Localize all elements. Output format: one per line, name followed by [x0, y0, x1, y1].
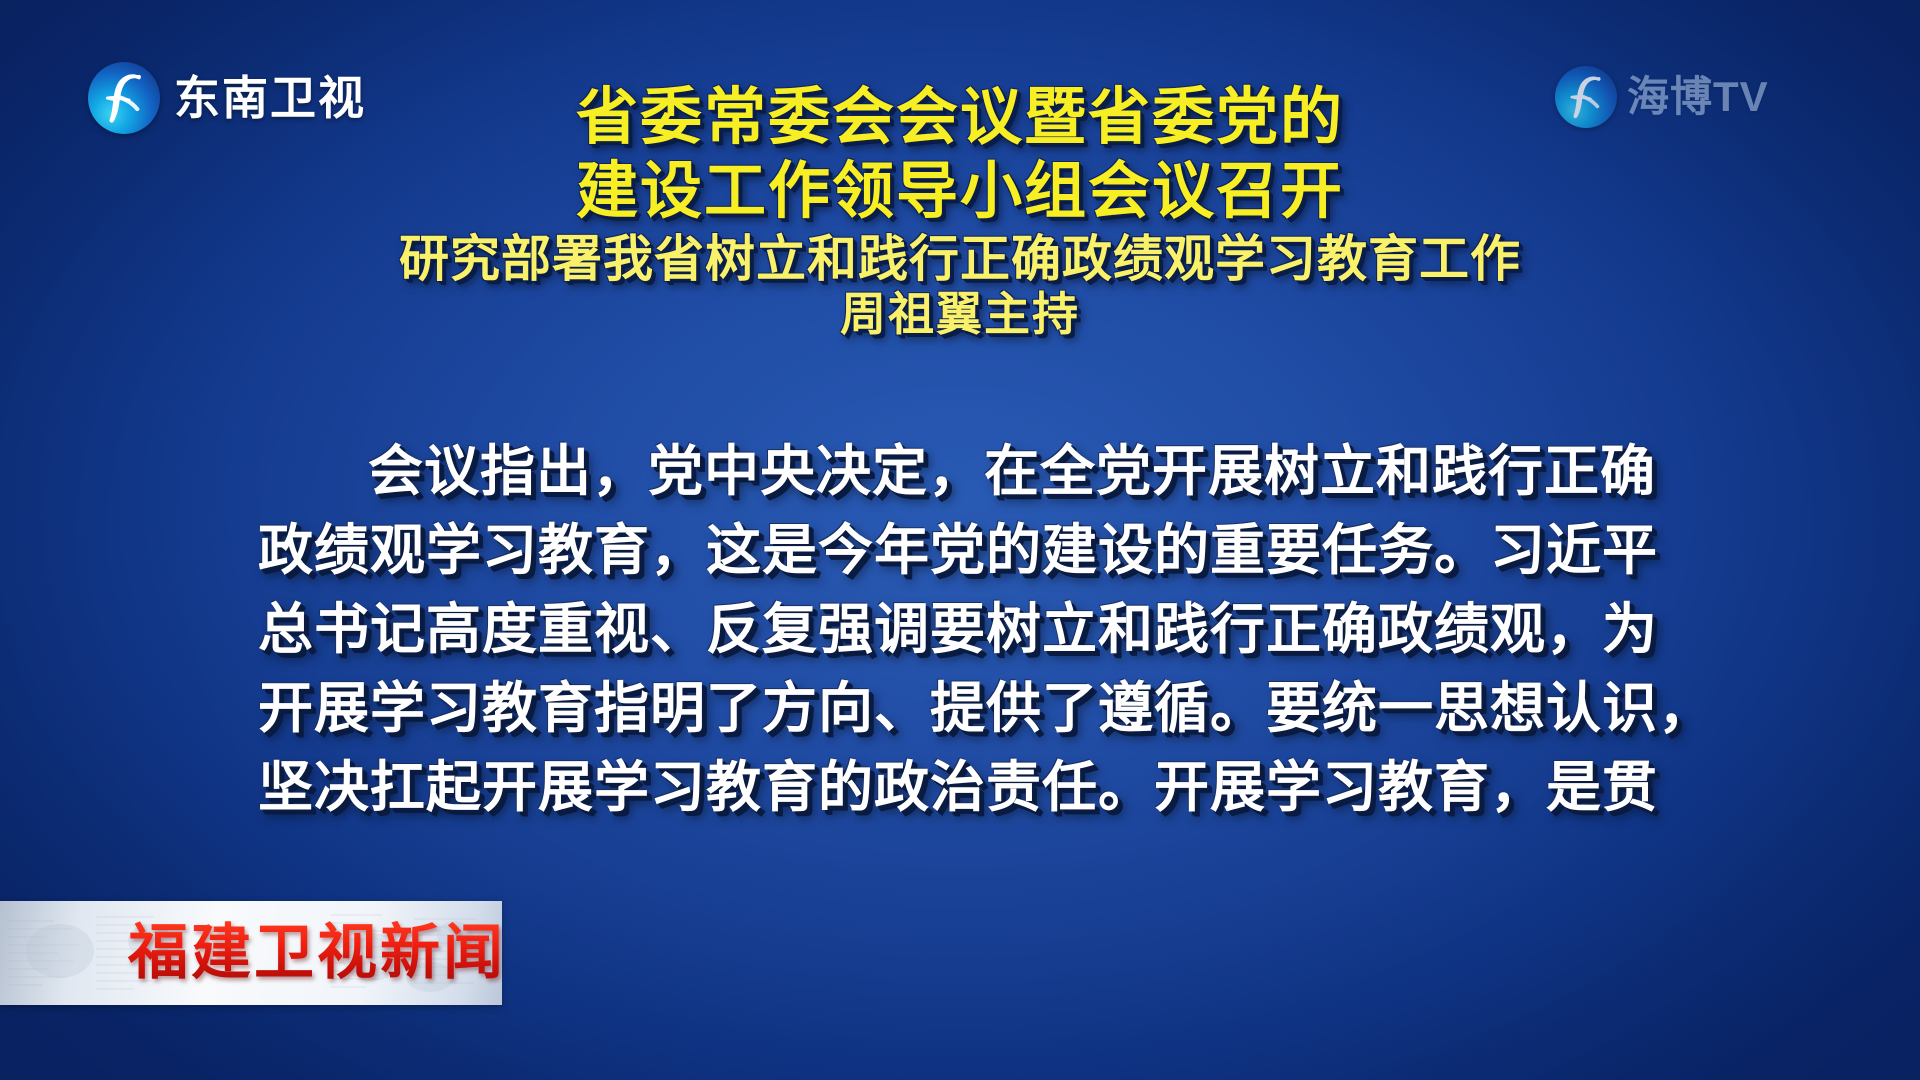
haibo-tv-f-emblem-icon: [1555, 66, 1617, 128]
body-line: 总书记高度重视、反复强调要树立和践行正确政绩观，为: [258, 590, 1678, 669]
channel-logo-southeast-tv: 东南卫视: [88, 62, 366, 134]
broadcast-frame: 东南卫视 海博TV 省委常委会会议暨省委党的 建设工作领导小组会议召开 研究部署…: [0, 0, 1920, 1080]
watermark-wordmark: 海博TV: [1627, 76, 1769, 118]
southeast-tv-f-emblem-icon: [88, 62, 160, 134]
channel-logo-wordmark: 东南卫视: [174, 75, 366, 121]
body-line: 会议指出，党中央决定，在全党开展树立和践行正确: [258, 432, 1678, 511]
watermark-haibo-tv: 海博TV: [1555, 66, 1769, 128]
body-line: 开展学习教育指明了方向、提供了遵循。要统一思想认识，: [258, 669, 1678, 748]
body-line: 坚决扛起开展学习教育的政治责任。开展学习教育，是贯: [258, 748, 1678, 827]
program-title-text: 福建卫视新闻: [128, 919, 502, 987]
headline-presenter: 周祖翼主持: [0, 291, 1920, 339]
headline-line-2: 建设工作领导小组会议召开: [0, 160, 1920, 224]
body-copy-block: 会议指出，党中央决定，在全党开展树立和践行正确 政绩观学习教育，这是今年党的建设…: [258, 432, 1678, 827]
headline-subline: 研究部署我省树立和践行正确政绩观学习教育工作: [0, 233, 1920, 285]
program-title-bug: 福建卫视新闻: [0, 901, 502, 1005]
body-line: 政绩观学习教育，这是今年党的建设的重要任务。习近平: [258, 511, 1678, 590]
